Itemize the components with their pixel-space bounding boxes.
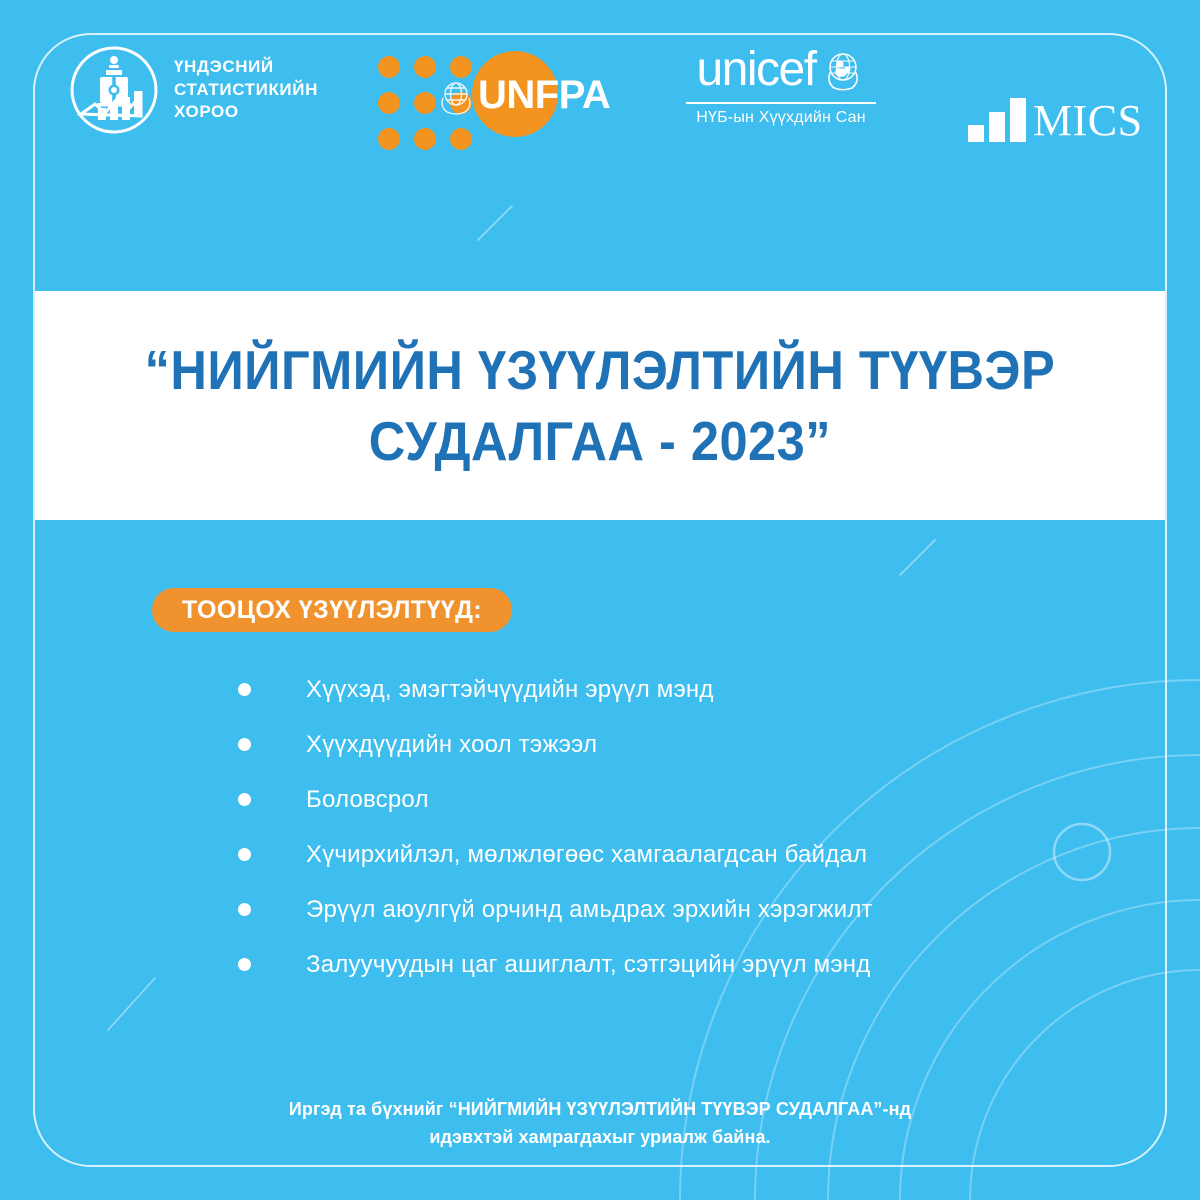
footer-call-to-action: Иргэд та бүхнийг “НИЙГМИЙН ҮЗҮҮЛЭЛТИЙН Т… [0, 1096, 1200, 1152]
unicef-wordmark: unicef [696, 46, 815, 94]
list-item: Эрүүл аюулгүй орчинд амьдрах эрхийн хэрэ… [238, 882, 1078, 937]
poster-root: ҮНДЭСНИЙ СТАТИСТИКИЙН ХОРОО [0, 0, 1200, 1200]
bullet-dot-icon [238, 683, 251, 696]
bullet-dot-icon [238, 958, 251, 971]
nso-label: ҮНДЭСНИЙ СТАТИСТИКИЙН ХОРОО [174, 56, 318, 123]
logo-mics: MICS [968, 98, 1143, 142]
list-item: Залуучуудын цаг ашиглалт, сэтгэцийн эрүү… [238, 937, 1078, 992]
unicef-subtitle: НҮБ-ын Хүүхдийн Сан [666, 109, 896, 127]
title-banner: “НИЙГМИЙН ҮЗҮҮЛЭЛТИЙН ТҮҮВЭР СУДАЛГАА - … [35, 291, 1165, 520]
bullet-dot-icon [238, 793, 251, 806]
unicef-emblem-icon [820, 47, 866, 93]
page-title: “НИЙГМИЙН ҮЗҮҮЛЭЛТИЙН ТҮҮВЭР СУДАЛГАА - … [108, 335, 1092, 476]
indicators-badge: ТООЦОХ ҮЗҮҮЛЭЛТҮҮД: [152, 588, 512, 632]
bullet-dot-icon [238, 738, 251, 751]
logo-unicef: unicef [666, 46, 896, 127]
unicef-top: unicef [666, 46, 896, 94]
bullet-dot-icon [238, 903, 251, 916]
indicator-list: Хүүхэд, эмэгтэйчүүдийн эрүүл мэнд Хүүхдү… [238, 662, 1078, 992]
list-item-label: Боловсрол [306, 786, 429, 814]
indicators-badge-label: ТООЦОХ ҮЗҮҮЛЭЛТҮҮД: [182, 596, 482, 625]
list-item-label: Залуучуудын цаг ашиглалт, сэтгэцийн эрүү… [306, 951, 870, 979]
logo-row: ҮНДЭСНИЙ СТАТИСТИКИЙН ХОРОО [0, 38, 1200, 148]
list-item-label: Хүчирхийлэл, мөлжлөгөөс хамгаалагдсан ба… [306, 841, 867, 869]
logo-nso: ҮНДЭСНИЙ СТАТИСТИКИЙН ХОРОО [68, 44, 318, 136]
unfpa-wordmark: UNFPA [478, 75, 610, 115]
logo-unfpa: UNFPA [378, 48, 578, 138]
mics-wordmark: MICS [1033, 100, 1143, 142]
bar-chart-icon [968, 98, 1026, 142]
list-item: Хүүхэд, эмэгтэйчүүдийн эрүүл мэнд [238, 662, 1078, 717]
list-item: Хүүхдүүдийн хоол тэжээл [238, 717, 1078, 772]
list-item: Боловсрол [238, 772, 1078, 827]
nso-emblem-icon [68, 44, 160, 136]
unicef-divider [686, 102, 876, 104]
list-item-label: Эрүүл аюулгүй орчинд амьдрах эрхийн хэрэ… [306, 896, 873, 924]
bullet-dot-icon [238, 848, 251, 861]
list-item-label: Хүүхэд, эмэгтэйчүүдийн эрүүл мэнд [306, 676, 714, 704]
list-item: Хүчирхийлэл, мөлжлөгөөс хамгаалагдсан ба… [238, 827, 1078, 882]
list-item-label: Хүүхдүүдийн хоол тэжээл [306, 731, 597, 759]
